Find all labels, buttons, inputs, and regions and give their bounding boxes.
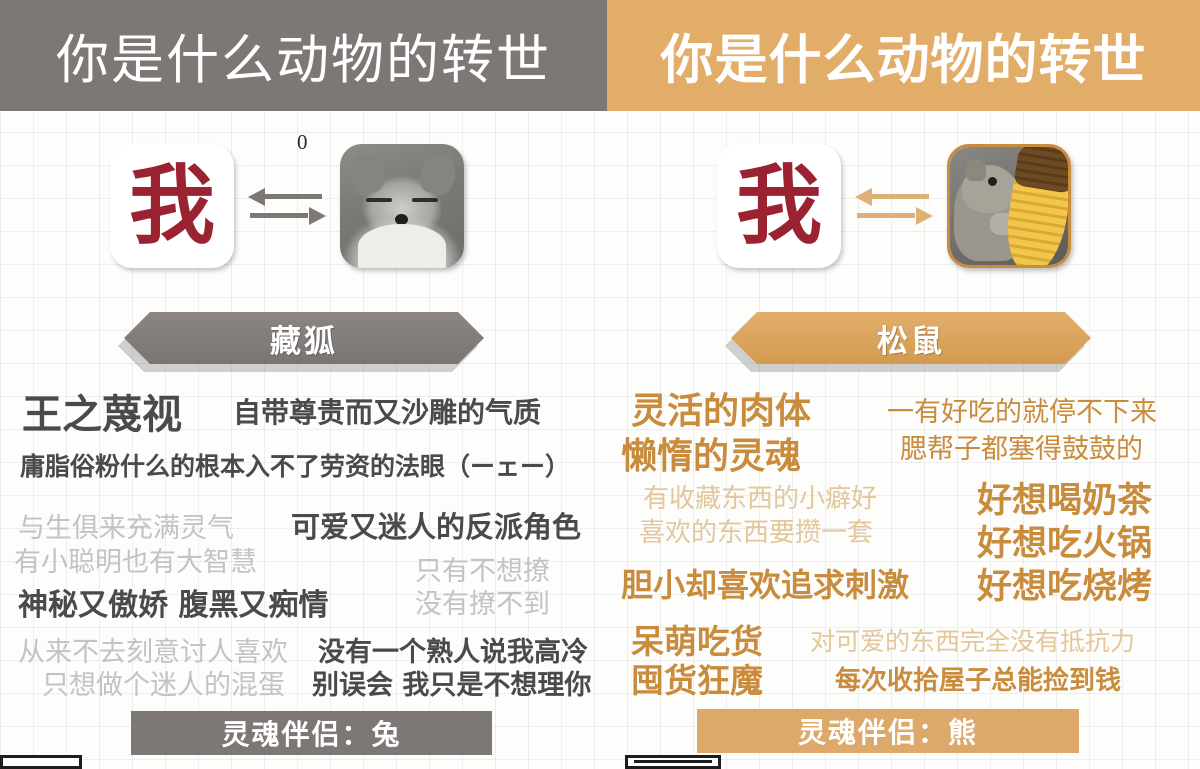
- exchange-arrows-left: [248, 176, 326, 236]
- trait-line: 胆小却喜欢追求刺激: [621, 560, 909, 606]
- trait-line: 囤货狂魔: [631, 654, 763, 702]
- trait-line: 喜欢的东西要攒一套: [639, 512, 873, 549]
- arrow-right-icon: [855, 212, 933, 219]
- trait-line: 一有好吃的就停不下来: [887, 390, 1157, 429]
- trait-line: 只想做个迷人的混蛋: [42, 663, 285, 702]
- squirrel-eating-corn-photo: [947, 144, 1071, 268]
- soulmate-banner-right: 灵魂伴侣：熊: [697, 709, 1079, 753]
- animal-name-right: 松鼠: [877, 316, 945, 361]
- avatar-row-left: 我: [110, 144, 464, 268]
- avatar-row-right: 我: [717, 144, 1071, 268]
- self-card-right: 我: [717, 144, 841, 268]
- trait-line: 每次收拾屋子总能捡到钱: [835, 660, 1121, 697]
- header-title-left: 你是什么动物的转世: [56, 18, 551, 94]
- trait-line: 没有撩不到: [415, 582, 550, 621]
- trait-line: 别误会 我只是不想理你: [312, 663, 591, 702]
- arrow-right-icon: [248, 212, 326, 219]
- trait-line: 懒惰的灵魂: [621, 427, 801, 479]
- arrow-left-icon: [855, 193, 933, 200]
- soulmate-label-right: 灵魂伴侣：熊: [798, 711, 978, 751]
- trait-line: 可爱又迷人的反派角色: [291, 504, 581, 546]
- trait-line: 有收藏东西的小癖好: [643, 478, 877, 515]
- trait-line: 对可爱的东西完全没有抵抗力: [810, 622, 1135, 658]
- animal-ribbon-left: 藏狐: [124, 312, 484, 364]
- trait-line: 庸脂俗粉什么的根本入不了劳资的法眼（ーェー）: [20, 447, 570, 483]
- trait-line: 神秘又傲娇 腹黑又痴情: [18, 580, 328, 624]
- animal-ribbon-right: 松鼠: [731, 312, 1091, 364]
- header-right: 你是什么动物的转世: [607, 0, 1200, 111]
- tibetan-fox-photo: [340, 144, 464, 268]
- header-left: 你是什么动物的转世: [0, 0, 607, 111]
- exchange-arrows-right: [855, 176, 933, 236]
- trait-line: 自带尊贵而又沙雕的气质: [233, 391, 541, 431]
- trait-line: 王之蔑视: [22, 382, 182, 440]
- panel-left: 你是什么动物的转世 0 我: [0, 0, 607, 769]
- cutoff-box-left: [0, 755, 82, 769]
- poster-canvas: 你是什么动物的转世 0 我: [0, 0, 1200, 769]
- panel-right: 你是什么动物的转世 我: [607, 0, 1200, 769]
- trait-line: 好想吃烧烤: [977, 558, 1152, 609]
- header-title-right: 你是什么动物的转世: [661, 18, 1147, 94]
- trait-line: 腮帮子都塞得鼓鼓的: [900, 427, 1143, 466]
- self-char-left: 我: [129, 163, 215, 249]
- soulmate-label-left: 灵魂伴侣：兔: [221, 713, 401, 753]
- cutoff-box-right: [625, 755, 721, 769]
- arrow-left-icon: [248, 193, 326, 200]
- self-char-right: 我: [736, 163, 822, 249]
- animal-name-left: 藏狐: [270, 316, 338, 361]
- trait-line: 有小聪明也有大智慧: [14, 540, 257, 579]
- self-card-left: 我: [110, 144, 234, 268]
- soulmate-banner-left: 灵魂伴侣：兔: [131, 711, 492, 755]
